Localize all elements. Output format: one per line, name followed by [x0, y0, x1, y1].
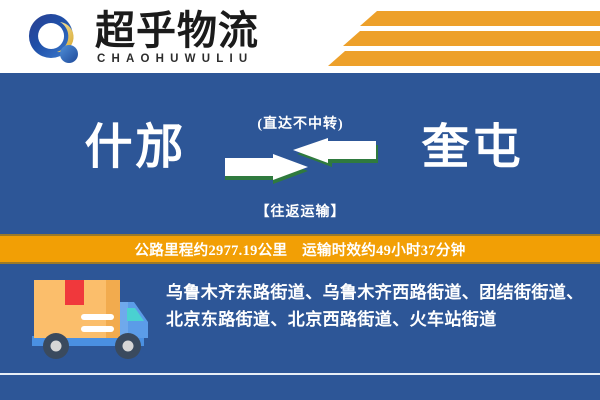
- company-logo-icon: [27, 12, 83, 68]
- street-line-2: 北京东路街道、北京西路街道、火车站街道: [166, 306, 586, 333]
- brand-name-pinyin: CHAOHUWULIU: [97, 53, 253, 65]
- route-middle: (直达不中转) 【往返运输】: [218, 111, 383, 231]
- route-section: 什邡 (直达不中转) 【往: [0, 73, 600, 234]
- banner-header: 超乎物流 CHAOHUWULIU: [0, 0, 600, 73]
- distance-duration-text: 公路里程约2977.19公里 运输时效约49小时37分钟: [134, 239, 465, 260]
- header-stripes-decoration: [330, 0, 600, 73]
- origin-city: 什邡: [48, 119, 223, 177]
- distance-duration-bar: 公路里程约2977.19公里 运输时效约49小时37分钟: [0, 234, 600, 264]
- stripe-1: [360, 11, 600, 26]
- logistics-route-banner: 超乎物流 CHAOHUWULIU 什邡 (直达不中转): [0, 0, 600, 400]
- brand-name-chinese: 超乎物流: [95, 9, 259, 53]
- destination-city: 奎屯: [385, 119, 560, 177]
- stripe-2: [343, 31, 600, 46]
- street-coverage-list: 乌鲁木齐东路街道、乌鲁木齐西路街道、团结街街道、 北京东路街道、北京西路街道、火…: [166, 279, 586, 333]
- main-panel: 什邡 (直达不中转) 【往: [0, 73, 600, 400]
- street-line-1: 乌鲁木齐东路街道、乌鲁木齐西路街道、团结街街道、: [166, 279, 586, 306]
- bottom-divider: [0, 373, 600, 375]
- direct-service-note: (直达不中转): [218, 113, 383, 133]
- delivery-truck-icon: [28, 274, 150, 362]
- stripe-3: [328, 51, 600, 66]
- coverage-section: 乌鲁木齐东路街道、乌鲁木齐西路街道、团结街街道、 北京东路街道、北京西路街道、火…: [0, 266, 600, 400]
- round-trip-note: 【往返运输】: [218, 201, 383, 221]
- bidirectional-arrow-icon: [223, 138, 378, 190]
